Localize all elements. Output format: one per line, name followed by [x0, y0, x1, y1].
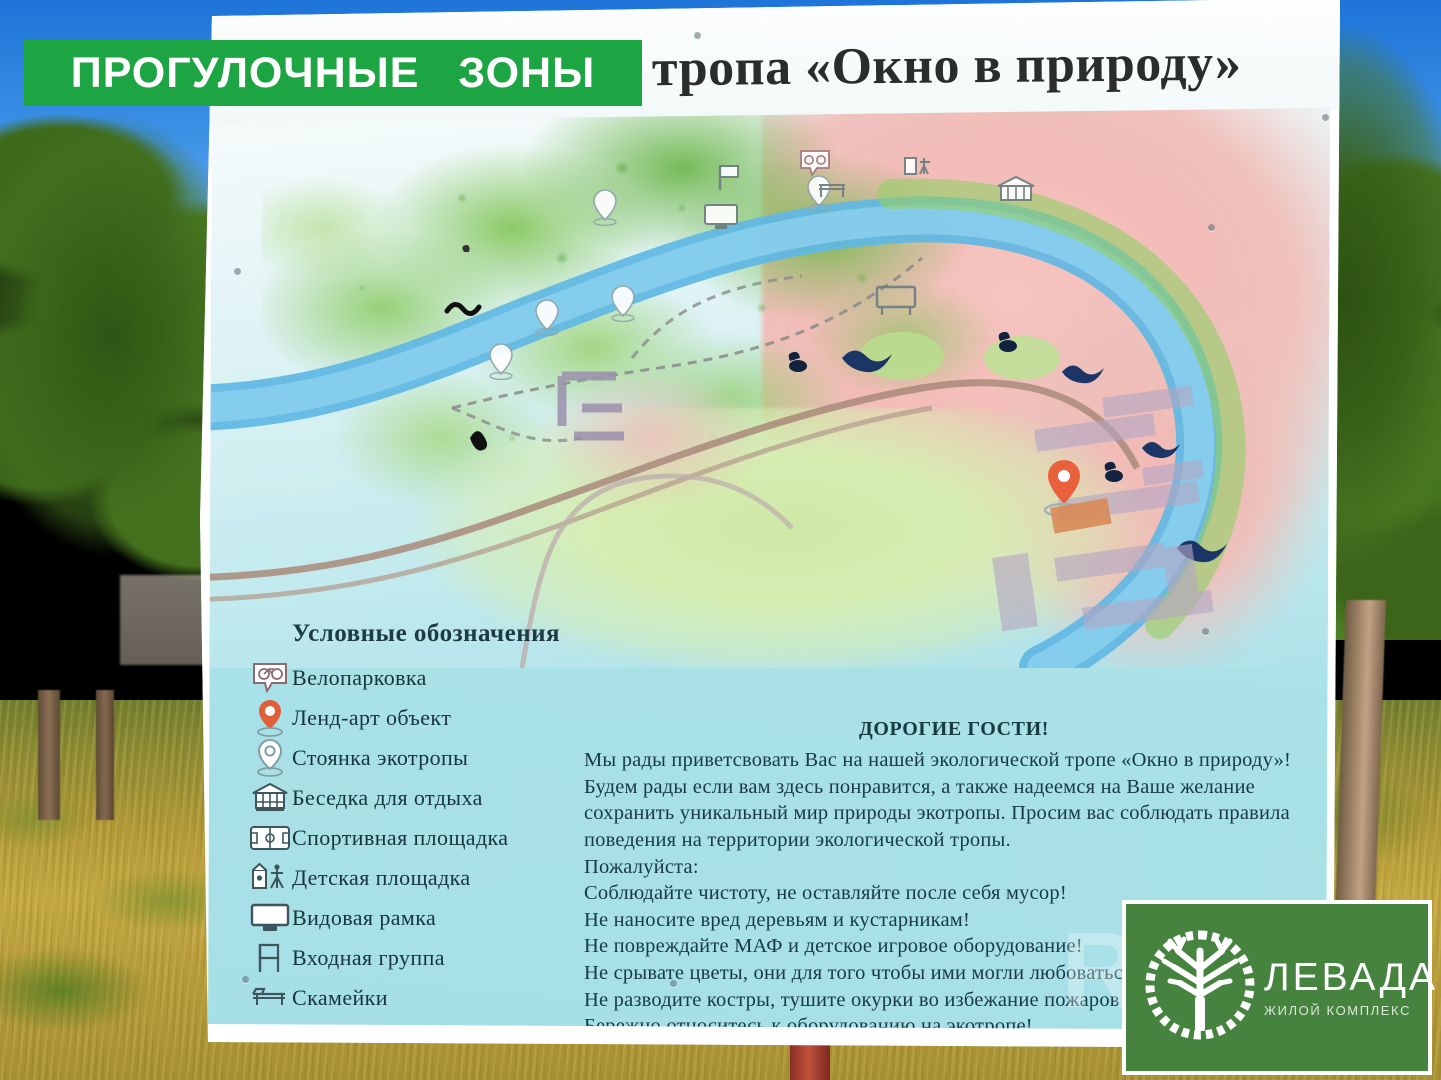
legend-item-label: Видовая рамка — [292, 905, 436, 931]
legend-item-label: Детская площадка — [292, 865, 471, 891]
screw — [1322, 114, 1329, 121]
bike-parking-icon — [798, 148, 832, 178]
guest-intro-line-3: сохранить уникальный мир природы экотроп… — [584, 800, 1324, 827]
land-art-pin-icon — [248, 699, 292, 737]
category-banner: ПРОГУЛОЧНЫЕ ЗОНЫ — [24, 40, 642, 106]
playground-icon — [248, 859, 292, 897]
playground-icon — [902, 150, 936, 184]
guest-intro-line-4: поведения на территории экологической тр… — [584, 827, 1324, 854]
ecotrail-stop-pin-icon — [592, 188, 618, 226]
screw — [234, 268, 241, 275]
guest-notice-heading: ДОРОГИЕ ГОСТИ! — [584, 718, 1324, 741]
bike-parking-icon — [248, 659, 292, 697]
bench-icon — [816, 178, 850, 200]
screw — [670, 980, 677, 987]
gazebo-icon — [994, 174, 1038, 208]
sports-field-icon — [248, 819, 292, 857]
guest-intro-line-2: Будем рады если вам здесь понравится, а … — [584, 774, 1324, 801]
view-frame-icon — [874, 284, 920, 318]
tree-trunk-left-1 — [38, 690, 60, 820]
legend-title: Условные обозначения — [292, 620, 668, 648]
page-title: тропа «Окно в природу» — [652, 33, 1242, 98]
screw — [694, 32, 701, 39]
levada-logo-text: ЛЕВАДА ЖИЛОЙ КОМПЛЕКС — [1264, 958, 1438, 1017]
legend-item-label: Скамейки — [292, 985, 388, 1011]
entrance-flag-icon — [248, 939, 292, 977]
ecotrail-stop-pin-icon — [248, 739, 292, 777]
legend-item-label: Беседка для отдыха — [292, 785, 483, 811]
ecotrail-stop-pin-icon — [534, 298, 560, 336]
tree-in-circle-icon — [1144, 929, 1256, 1046]
legend-item-label: Ленд-арт объект — [292, 705, 451, 731]
screw — [1208, 224, 1215, 231]
entrance-flag-icon — [714, 162, 748, 192]
ecotrail-stop-pin-icon — [610, 284, 636, 322]
screw — [242, 976, 249, 983]
please-label: Пожалуйста: — [584, 854, 1324, 881]
screenshot-root: тропа «Окно в природу» — [0, 0, 1441, 1080]
trail-map — [202, 108, 1330, 668]
view-frame-icon — [248, 899, 292, 937]
legend-item-label: Спортивная площадка — [292, 825, 508, 851]
bench-icon — [248, 979, 292, 1017]
gazebo-icon — [248, 779, 292, 817]
map-river — [202, 108, 1330, 668]
sign-title-wrap: тропа «Окно в природу» — [652, 17, 1333, 114]
legend-item-label: Стоянка экотропы — [292, 745, 468, 771]
screw — [1202, 628, 1209, 635]
guest-intro-line-1: Мы рады приветсвовать Вас на нашей эколо… — [584, 747, 1324, 774]
levada-name: ЛЕВАДА — [1264, 958, 1438, 997]
legend-item-label: Входная группа — [292, 945, 445, 971]
legend-item-label: Велопарковка — [292, 665, 427, 691]
sign-content-area: Условные обозначения Велопарковка — [202, 108, 1330, 1038]
view-frame-icon — [702, 202, 740, 232]
banner-label: ПРОГУЛОЧНЫЕ ЗОНЫ — [71, 49, 595, 98]
levada-subtitle: ЖИЛОЙ КОМПЛЕКС — [1264, 1004, 1438, 1017]
legend-item-bike-parking: Велопарковка — [248, 658, 668, 698]
tree-trunk-left-2 — [96, 690, 114, 820]
information-sign-board: тропа «Окно в природу» — [182, 0, 1342, 1052]
ecotrail-stop-pin-icon — [488, 342, 514, 380]
levada-logo: ЛЕВАДА ЖИЛОЙ КОМПЛЕКС — [1122, 900, 1432, 1075]
